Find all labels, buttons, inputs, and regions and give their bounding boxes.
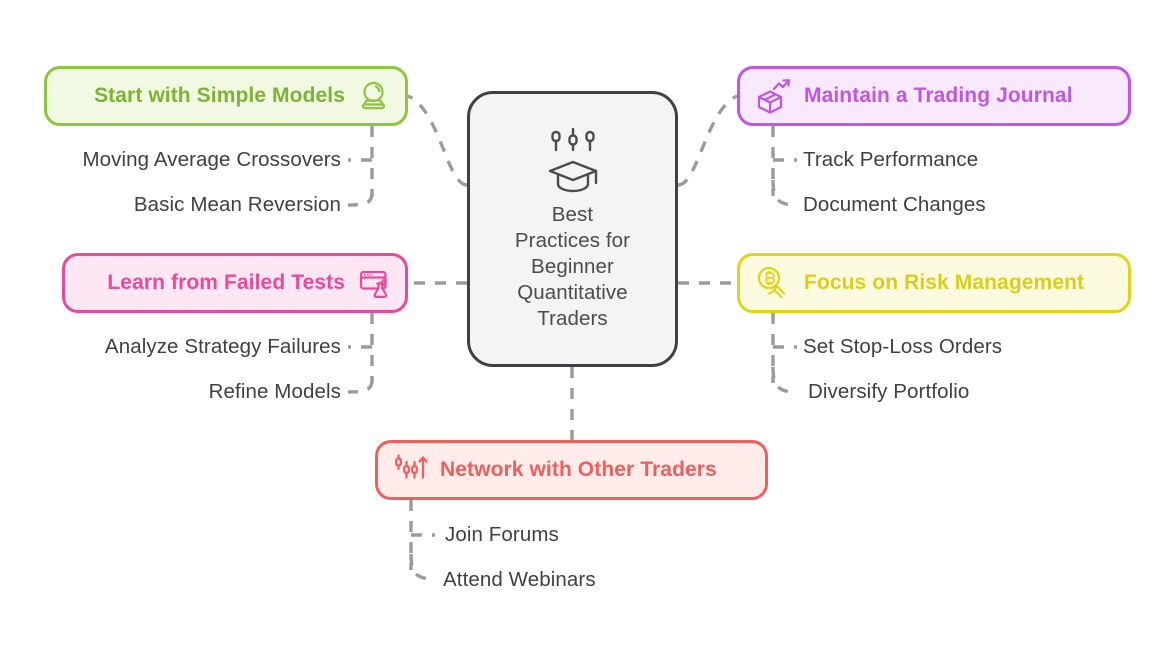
box-growth-arrow-icon (754, 77, 792, 115)
branch-label-failed-tests: Learn from Failed Tests (107, 271, 345, 295)
sub-item-track-performance[interactable]: Track Performance (803, 148, 978, 172)
branch-node-risk-management[interactable]: Focus on Risk Management (737, 253, 1131, 313)
connector-risk-management-child-1 (773, 367, 797, 392)
sub-item-join-forums[interactable]: Join Forums (445, 523, 559, 547)
candlestick-uptrend-icon (392, 452, 428, 488)
connector-failed-tests-child-1 (348, 380, 372, 392)
connector-center-to-trading-journal (678, 96, 737, 185)
branch-node-network[interactable]: Network with Other Traders (375, 440, 768, 500)
sub-item-analyze-strategy-failures[interactable]: Analyze Strategy Failures (0, 335, 341, 359)
candlestick-graduation-cap-icon (540, 126, 606, 196)
connector-trading-journal-child-1 (773, 180, 797, 205)
sub-item-basic-mean-reversion[interactable]: Basic Mean Reversion (0, 193, 341, 217)
sub-item-refine-models[interactable]: Refine Models (0, 380, 341, 404)
branch-node-failed-tests[interactable]: Learn from Failed Tests (62, 253, 408, 313)
branch-node-trading-journal[interactable]: Maintain a Trading Journal (737, 66, 1131, 126)
sub-item-document-changes[interactable]: Document Changes (803, 193, 986, 217)
branch-label-risk-management: Focus on Risk Management (804, 271, 1084, 295)
central-title-line: Practices for (515, 228, 630, 254)
branch-label-simple-models: Start with Simple Models (94, 84, 345, 108)
branch-label-network: Network with Other Traders (440, 458, 717, 482)
bitcoin-magnifier-icon (754, 264, 792, 302)
central-node[interactable]: Best Practices for Beginner Quantitative… (467, 91, 678, 367)
sub-item-moving-average-crossovers[interactable]: Moving Average Crossovers (0, 148, 341, 172)
central-title-line: Quantitative (515, 280, 630, 306)
branch-label-trading-journal: Maintain a Trading Journal (804, 84, 1073, 108)
mindmap-canvas: Best Practices for Beginner Quantitative… (0, 0, 1158, 655)
sub-item-set-stop-loss-orders[interactable]: Set Stop-Loss Orders (803, 335, 1002, 359)
browser-flask-icon (357, 266, 391, 300)
central-node-title: Best Practices for Beginner Quantitative… (515, 202, 630, 332)
connector-center-to-simple-models (408, 96, 467, 185)
central-title-line: Beginner (515, 254, 630, 280)
crystal-ball-icon (357, 79, 391, 113)
central-title-line: Best (515, 202, 630, 228)
branch-node-simple-models[interactable]: Start with Simple Models (44, 66, 408, 126)
connector-network-child-1 (411, 554, 435, 579)
central-title-line: Traders (515, 306, 630, 332)
connector-simple-models-child-1 (348, 193, 372, 205)
sub-item-attend-webinars[interactable]: Attend Webinars (443, 568, 596, 592)
sub-item-diversify-portfolio[interactable]: Diversify Portfolio (808, 380, 969, 404)
